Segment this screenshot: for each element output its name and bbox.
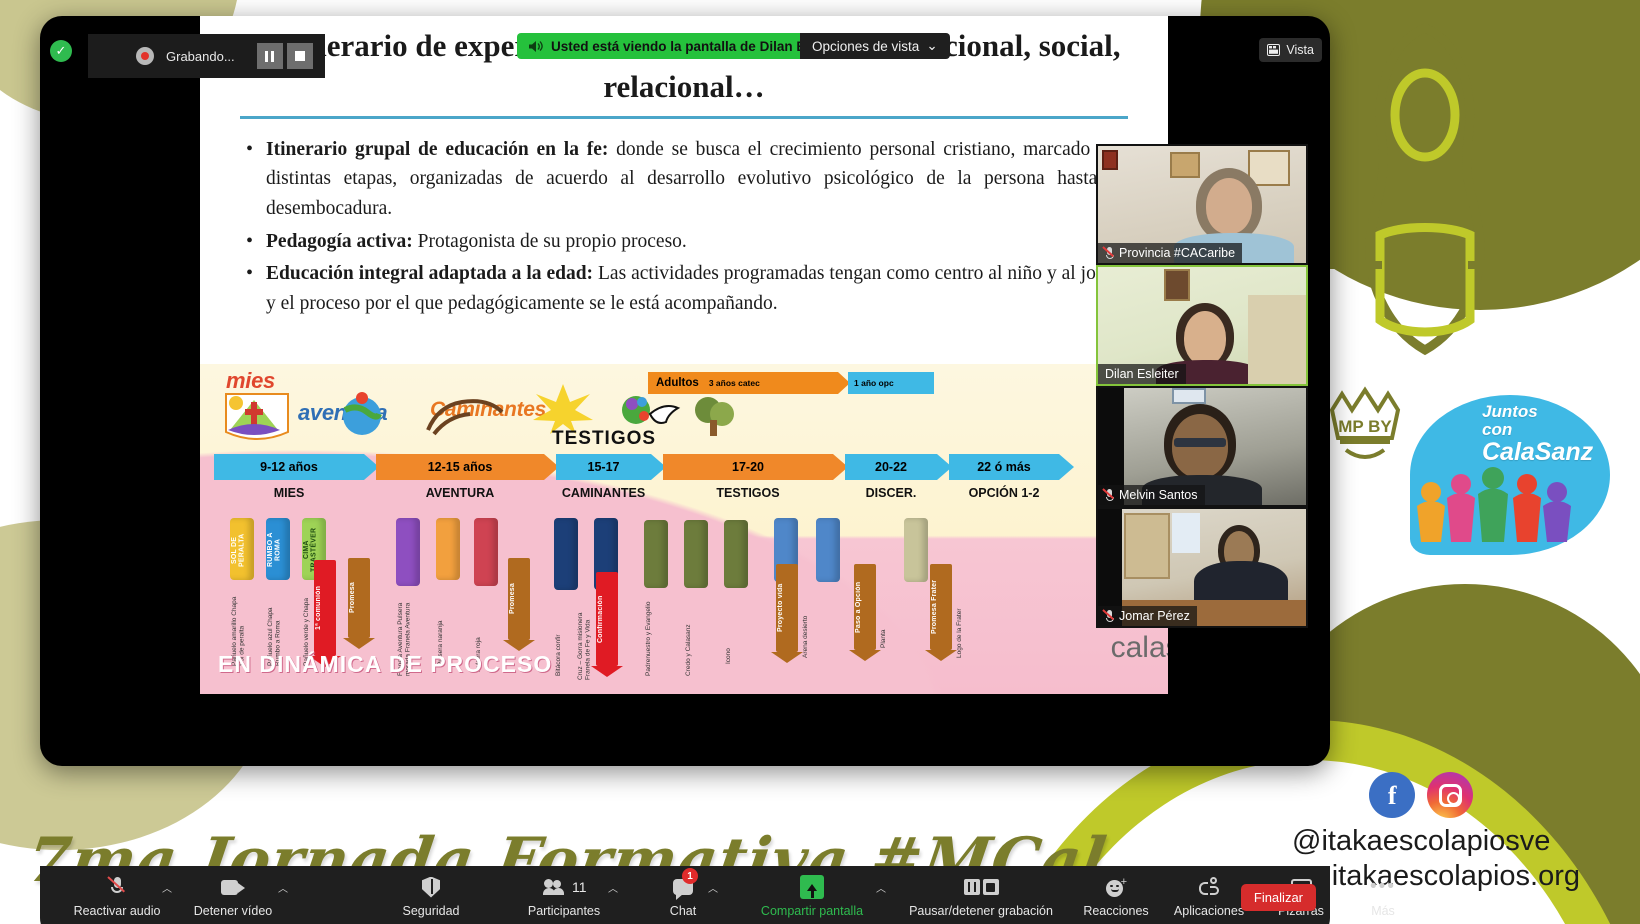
- tile-label-0: Provincia #CACaribe: [1119, 246, 1235, 260]
- chat-unread-badge: 1: [682, 868, 698, 884]
- stage-label-1: AVENTURA: [376, 486, 544, 506]
- bar-label-8: Promesa: [509, 562, 529, 636]
- chevron-up-icon-participants[interactable]: ︿: [608, 880, 618, 895]
- bar-label-15: Paso a Opción: [855, 568, 875, 646]
- bar-pulsera-roja: [474, 518, 498, 586]
- bar-icono: [724, 520, 748, 588]
- toolbar-label-participants: Participantes: [528, 904, 600, 918]
- toolbar-reactions-button[interactable]: + Reacciones: [1076, 866, 1156, 918]
- toolbar-video-button[interactable]: Detener vídeo ︿: [190, 866, 276, 918]
- stage-label-4: DISCER.: [845, 486, 937, 506]
- mic-muted-icon: [1105, 247, 1114, 260]
- bar-sub-14: Arena desierto: [802, 588, 824, 658]
- svg-text:MP BY: MP BY: [1338, 417, 1392, 436]
- check-icon: ✓: [50, 40, 72, 62]
- age-band-row: 9-12 años 12-15 años 15-17 17-20 20-22 2…: [214, 454, 1154, 480]
- chevron-up-icon-video[interactable]: ︿: [278, 880, 288, 895]
- participants-icon: 11: [558, 874, 570, 900]
- toolbar-label-chat: Chat: [670, 904, 696, 918]
- end-meeting-button[interactable]: Finalizar: [1241, 884, 1316, 911]
- toolbar-label-video: Detener vídeo: [194, 904, 273, 918]
- toolbar-more-button[interactable]: ••• Más: [1358, 866, 1408, 918]
- caminantes-swirl-graphic: [422, 390, 508, 438]
- stage-label-2: CAMINANTES: [556, 486, 651, 506]
- toolbar-chat-button[interactable]: 1 Chat ︿: [660, 866, 706, 918]
- opcion-arrow: 1 año opc: [848, 372, 934, 394]
- stage-label-row: MIES AVENTURA CAMINANTES TESTIGOS DISCER…: [214, 486, 1154, 506]
- toolbar-recording-button[interactable]: Pausar/detener grabación: [902, 866, 1060, 918]
- bar-label-0: SOL DE PERALTA: [231, 522, 253, 578]
- toolbar-apps-button[interactable]: Aplicaciones: [1166, 866, 1252, 918]
- tile-label-3: Jomar Pérez: [1119, 609, 1190, 623]
- age-band-4: 20-22: [845, 454, 937, 480]
- age-band-1: 12-15 años: [376, 454, 544, 480]
- calasanz-slogan: Juntos con CalaSanz: [1482, 403, 1602, 465]
- slide-bullet-2: Pedagogía activa: Protagonista de su pro…: [244, 227, 1124, 257]
- view-options-button[interactable]: Opciones de vista ⌄: [800, 33, 950, 59]
- recording-pause-button[interactable]: [257, 43, 283, 69]
- bar-label-3: 1ª comunión: [315, 564, 335, 652]
- infographic-footer-text: EN DINÁMICA DE PROCESO: [218, 651, 552, 678]
- video-tile-jomar[interactable]: Jomar Pérez: [1096, 507, 1308, 628]
- calasanz-line1: Juntos: [1482, 403, 1602, 421]
- aventura-globe-graphic: [335, 386, 389, 440]
- toolbar-label-reactions: Reacciones: [1083, 904, 1148, 918]
- stage-label-3: TESTIGOS: [663, 486, 833, 506]
- speaker-icon: [529, 40, 544, 53]
- zoom-meeting-window: 1. Itinerario de experiencias de descubr…: [40, 16, 1330, 766]
- infographic-logos: mies aventura: [200, 368, 1168, 440]
- toolbar-label-more: Más: [1371, 904, 1395, 918]
- social-handle: @itakaescolapiosve: [1262, 824, 1580, 859]
- opcion-tree-graphic: [690, 394, 742, 440]
- virgin-outline-logo: [1320, 20, 1530, 360]
- bar-sub-15: Planta: [880, 588, 902, 648]
- mies-shield-graphic: [220, 386, 294, 446]
- toolbar-label-security: Seguridad: [403, 904, 460, 918]
- toolbar-label-apps: Aplicaciones: [1174, 904, 1244, 918]
- video-tile-provincia[interactable]: Provincia #CACaribe: [1096, 144, 1308, 265]
- bar-label-16: Promesa Frater: [931, 568, 951, 646]
- record-pause-stop-icon: [964, 874, 999, 900]
- mic-muted-icon: [111, 874, 124, 900]
- recording-status-bar: Grabando...: [88, 34, 325, 78]
- itinerary-infographic: mies aventura: [200, 364, 1168, 694]
- age-band-3: 17-20: [663, 454, 833, 480]
- bullet-3-bold: Educación integral adaptada a la edad:: [266, 263, 593, 284]
- chevron-up-icon-chat[interactable]: ︿: [708, 880, 718, 895]
- bar-opcion: [904, 518, 928, 582]
- toolbar-share-screen-button[interactable]: Compartir pantalla ︿: [754, 866, 870, 918]
- age-band-2: 15-17: [556, 454, 651, 480]
- bar-sub-13: Icono: [725, 594, 747, 664]
- slide-bullets: Itinerario grupal de educación en la fe:…: [200, 119, 1168, 319]
- adultos-label: Adultos: [656, 377, 699, 389]
- instagram-icon[interactable]: [1427, 772, 1473, 818]
- camera-icon: [221, 874, 245, 900]
- testigos-hands-graphic: [530, 382, 596, 434]
- discernimiento-dove-graphic: [620, 392, 682, 440]
- shared-screen-slide: 1. Itinerario de experiencias de descubr…: [200, 16, 1168, 694]
- video-tile-melvin[interactable]: Melvin Santos: [1096, 386, 1308, 507]
- toolbar-security-button[interactable]: Seguridad: [396, 866, 466, 918]
- opcion-note: 1 año opc: [854, 378, 894, 388]
- bar-label-10: Confirmación: [597, 576, 617, 662]
- apps-icon: [1199, 874, 1219, 900]
- age-band-5: 22 ó más: [949, 454, 1059, 480]
- mic-muted-icon: [1105, 610, 1114, 623]
- mic-muted-icon: [1105, 489, 1114, 502]
- more-dots-icon: •••: [1370, 874, 1396, 900]
- bullet-2-bold: Pedagogía activa:: [266, 231, 413, 252]
- recording-stop-button[interactable]: [287, 43, 313, 69]
- record-dot-icon: [136, 47, 154, 65]
- calasanz-line2: con: [1482, 421, 1602, 439]
- toolbar-participants-button[interactable]: 11 Participantes ︿: [522, 866, 606, 918]
- tile-name-provincia: Provincia #CACaribe: [1098, 243, 1242, 263]
- chevron-down-icon: ⌄: [926, 38, 937, 54]
- bar-bitacora-confir: [554, 518, 578, 590]
- bullet-2-rest: Protagonista de su propio proceso.: [413, 231, 687, 252]
- view-options-label: Opciones de vista: [812, 39, 919, 54]
- chevron-up-icon-audio[interactable]: ︿: [162, 880, 172, 895]
- recording-status-text: Grabando...: [166, 49, 235, 64]
- bar-sub-10: Cruz – Gorra misionera Franela de Fe y V…: [577, 598, 599, 680]
- bar-credo-calasanz: [684, 520, 708, 588]
- calasanz-line3: CalaSanz: [1482, 439, 1602, 465]
- screenshot-root: MP BY Juntos con CalaSanz 1. Itinerario …: [0, 0, 1640, 924]
- bar-label-1: RUMBO A ROMA: [267, 522, 289, 578]
- reactions-icon: +: [1106, 874, 1126, 900]
- stage-label-0: MIES: [214, 486, 364, 506]
- tile-name-melvin: Melvin Santos: [1098, 485, 1205, 505]
- toolbar-label-mute: Reactivar audio: [74, 904, 161, 918]
- participants-count: 11: [572, 879, 587, 895]
- age-band-0: 9-12 años: [214, 454, 364, 480]
- adultos-arrow: Adultos 3 años catec: [648, 372, 838, 394]
- slide-bullet-3: Educación integral adaptada a la edad: L…: [244, 259, 1124, 318]
- tile-label-2: Melvin Santos: [1119, 488, 1198, 502]
- facebook-icon[interactable]: f: [1369, 772, 1415, 818]
- shield-icon: [422, 874, 440, 900]
- stage-label-5: OPCIÓN 1-2: [949, 486, 1059, 506]
- adultos-note: 3 años catec: [709, 378, 760, 388]
- tile-name-dilan: Dilan Esleiter: [1098, 364, 1186, 384]
- grid-view-icon: [1267, 44, 1280, 56]
- bar-sub-11: Padrenuestro y Evangelio: [645, 594, 667, 676]
- tile-name-jomar: Jomar Pérez: [1098, 606, 1197, 626]
- bar-sub-16: Logo de la Frater: [956, 588, 978, 658]
- zoom-toolbar: Reactivar audio ︿ Detener vídeo ︿ Seguri…: [40, 866, 1330, 924]
- chevron-up-icon-share[interactable]: ︿: [876, 880, 886, 895]
- bar-padrenuestro: [644, 520, 668, 588]
- bar-franela-aventura: [396, 518, 420, 586]
- share-screen-icon: [800, 874, 824, 900]
- bar-sub-12: Credo y Calasanz: [685, 594, 707, 676]
- bullet-1-bold: Itinerario grupal de educación en la fe:: [266, 139, 608, 160]
- toolbar-mute-button[interactable]: Reactivar audio ︿: [74, 866, 160, 918]
- vista-button[interactable]: Vista: [1259, 38, 1322, 62]
- bar-label-4: Promesa: [349, 562, 369, 634]
- slide-title: 1. Itinerario de experiencias de descubr…: [200, 16, 1168, 108]
- video-tile-dilan[interactable]: Dilan Esleiter: [1096, 265, 1308, 386]
- bar-paso-opcion-base: [816, 518, 840, 582]
- participant-tiles: Provincia #CACaribe Dilan Esleiter: [1096, 144, 1308, 628]
- vista-label: Vista: [1286, 43, 1314, 57]
- bar-label-14: Proyecto vida: [777, 568, 797, 648]
- toolbar-label-share: Compartir pantalla: [761, 904, 863, 918]
- slide-bullet-1: Itinerario grupal de educación en la fe:…: [244, 135, 1124, 224]
- toolbar-label-recording: Pausar/detener grabación: [909, 904, 1053, 918]
- bar-pulsera-naranja: [436, 518, 460, 580]
- bar-sub-9: Bitácora confir: [555, 596, 577, 676]
- tile-label-1: Dilan Esleiter: [1105, 367, 1179, 381]
